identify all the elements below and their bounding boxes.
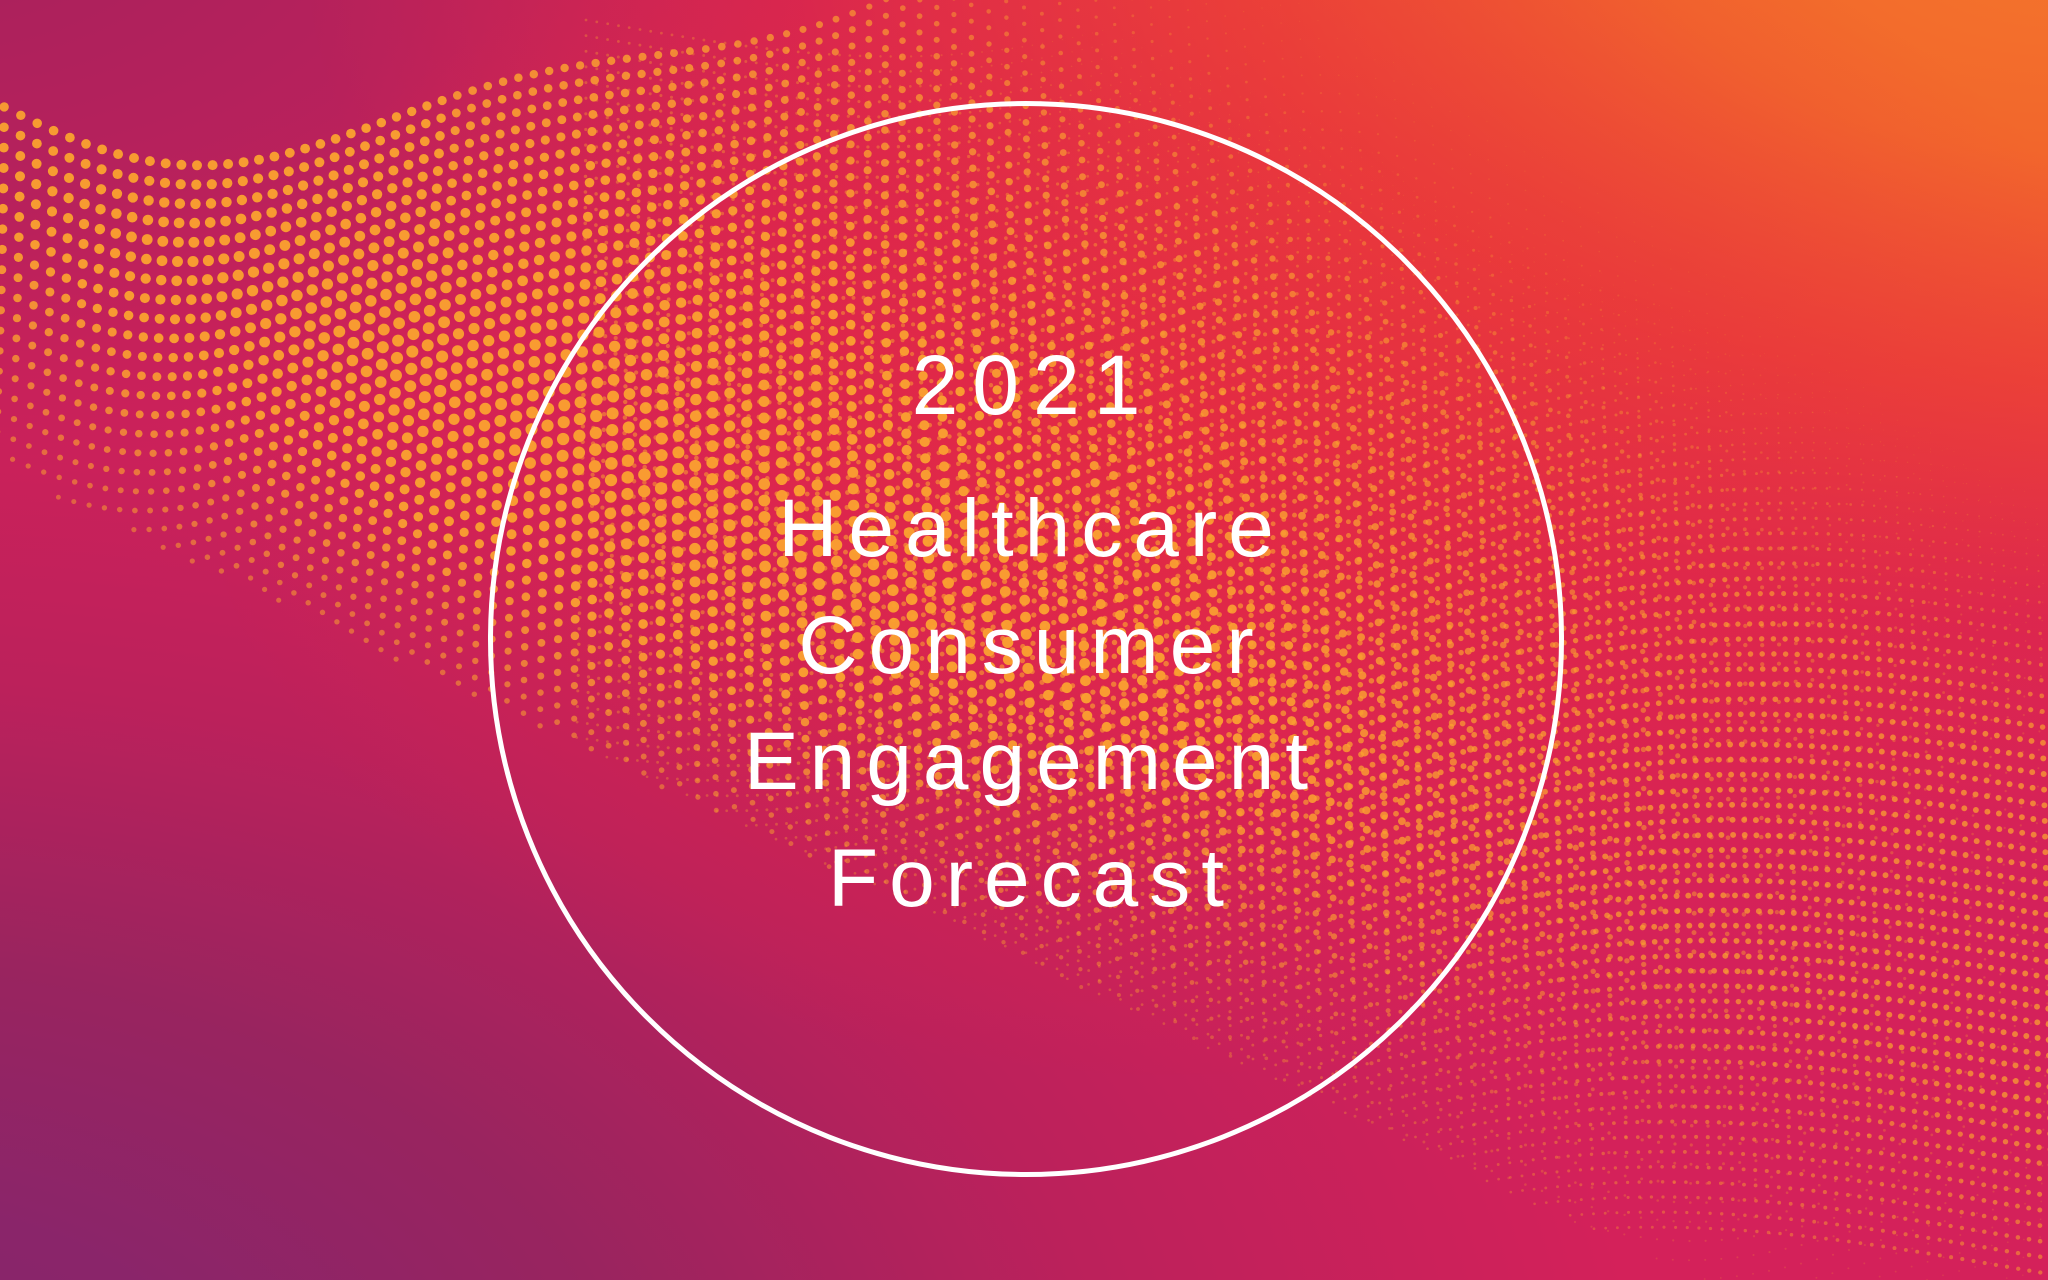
page-title-line-2: Consumer bbox=[787, 588, 1264, 704]
poster-canvas: 2021 Healthcare Consumer Engagement Fore… bbox=[0, 0, 2048, 1280]
page-title-year: 2021 bbox=[898, 341, 1155, 429]
page-title-line-4: Forecast bbox=[817, 821, 1235, 937]
title-block: 2021 Healthcare Consumer Engagement Fore… bbox=[488, 101, 1564, 1177]
page-title-line-3: Engagement bbox=[733, 704, 1319, 820]
page-title-line-1: Healthcare bbox=[767, 471, 1285, 587]
